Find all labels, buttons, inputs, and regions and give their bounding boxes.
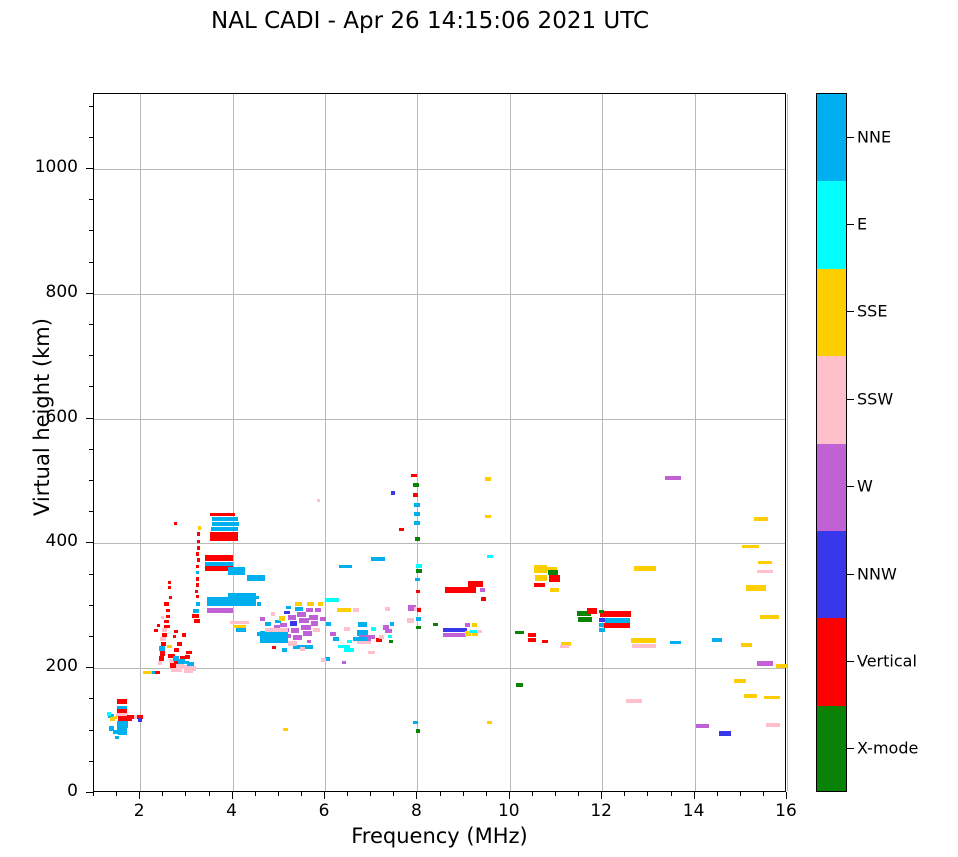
x-axis-tick	[532, 792, 533, 796]
y-axis-tick	[89, 199, 93, 200]
echo-block	[339, 565, 352, 569]
echo-block	[358, 622, 367, 627]
y-axis-tick	[89, 449, 93, 450]
colorbar-label-e: E	[857, 215, 867, 234]
x-axis-tick	[162, 792, 163, 796]
echo-block	[196, 583, 200, 587]
echo-block	[599, 628, 606, 632]
echo-block	[160, 651, 166, 656]
echo-block	[257, 602, 262, 606]
colorbar-segment	[817, 94, 846, 181]
echo-block	[337, 608, 351, 612]
y-axis-tick	[89, 730, 93, 731]
y-axis-tick-label: 200	[0, 656, 78, 676]
echo-block	[330, 632, 337, 636]
colorbar-segment	[817, 356, 846, 443]
echo-block	[347, 640, 352, 644]
echo-block	[353, 608, 360, 612]
x-axis-tick	[93, 792, 94, 796]
plot-area	[93, 93, 786, 792]
y-axis-tick-label: 1000	[0, 157, 78, 177]
x-axis-tick	[393, 792, 394, 796]
echo-block	[107, 712, 112, 716]
echo-block	[195, 590, 199, 594]
echo-block	[118, 732, 127, 736]
echo-block	[115, 736, 119, 740]
echo-block	[265, 622, 272, 626]
echo-block	[297, 612, 306, 617]
echo-block	[174, 648, 179, 652]
echo-block	[487, 555, 494, 559]
x-axis-tick-label: 2	[109, 801, 169, 821]
echo-data-layer	[94, 94, 785, 791]
y-axis-tick	[89, 230, 93, 231]
echo-block	[342, 661, 347, 665]
echo-block	[321, 658, 326, 662]
echo-block	[282, 648, 288, 652]
echo-block	[167, 645, 172, 649]
echo-block	[271, 612, 276, 616]
echo-block	[288, 615, 296, 620]
echo-block	[164, 602, 169, 606]
echo-block	[138, 718, 143, 722]
echo-block	[632, 644, 656, 648]
echo-block	[542, 640, 548, 644]
echo-block	[413, 483, 420, 487]
x-axis-tick	[509, 792, 510, 799]
echo-block	[299, 618, 309, 623]
echo-block	[414, 521, 421, 525]
echo-block	[368, 651, 375, 655]
x-axis-tick	[763, 792, 764, 796]
echo-block	[416, 729, 421, 733]
echo-block	[317, 499, 321, 502]
echo-block	[247, 575, 266, 581]
echo-block	[741, 643, 752, 647]
colorbar-label-x-mode: X-mode	[857, 739, 918, 758]
echo-block	[443, 633, 466, 637]
colorbar-tick	[847, 574, 854, 575]
echo-block	[166, 615, 171, 619]
echo-block	[210, 513, 235, 516]
x-axis-tick	[324, 792, 325, 799]
x-axis-tick	[232, 792, 233, 799]
echo-block	[162, 628, 168, 632]
echo-block	[228, 567, 245, 575]
x-axis-tick	[209, 792, 210, 796]
echo-block	[159, 646, 166, 650]
x-axis-tick	[601, 792, 602, 799]
echo-block	[196, 595, 200, 599]
colorbar-segment	[817, 181, 846, 268]
echo-block	[416, 626, 422, 630]
echo-block	[734, 679, 746, 683]
echo-block	[196, 602, 201, 606]
echo-block	[177, 642, 182, 646]
echo-block	[357, 641, 371, 645]
echo-block	[154, 629, 158, 632]
echo-block	[560, 645, 569, 649]
echo-block	[196, 577, 200, 581]
chart-title: NAL CADI - Apr 26 14:15:06 2021 UTC	[0, 8, 860, 34]
echo-block	[549, 575, 560, 583]
colorbar-label-sse: SSE	[857, 302, 887, 321]
echo-block	[260, 631, 288, 644]
echo-block	[157, 624, 160, 627]
x-axis-tick	[555, 792, 556, 796]
echo-block	[626, 699, 642, 703]
echo-block	[143, 671, 153, 674]
echo-block	[295, 602, 302, 606]
echo-block	[535, 575, 547, 581]
echo-block	[196, 552, 200, 556]
y-axis-tick	[89, 574, 93, 575]
colorbar-segment	[817, 618, 846, 705]
x-axis-tick	[347, 792, 348, 796]
y-axis-tick	[89, 386, 93, 387]
echo-block	[415, 578, 421, 581]
echo-block	[228, 593, 256, 606]
echo-block	[197, 532, 201, 536]
colorbar-segment	[817, 706, 846, 792]
echo-block	[757, 661, 774, 666]
colorbar-tick	[847, 137, 854, 138]
y-axis-tick	[89, 324, 93, 325]
echo-block	[369, 635, 375, 639]
echo-block	[515, 631, 523, 635]
echo-block	[485, 515, 492, 519]
echo-block	[185, 655, 191, 659]
echo-block	[587, 608, 597, 614]
echo-block	[186, 651, 192, 655]
echo-block	[550, 588, 559, 592]
echo-block	[325, 598, 339, 602]
echo-block	[371, 627, 376, 631]
echo-block	[758, 561, 772, 565]
y-axis-tick	[89, 355, 93, 356]
echo-block	[113, 716, 118, 720]
echo-block	[236, 628, 246, 632]
echo-block	[744, 694, 758, 698]
echo-block	[160, 637, 167, 641]
echo-block	[260, 617, 265, 621]
echo-block	[333, 637, 339, 641]
ionogram-figure: NAL CADI - Apr 26 14:15:06 2021 UTC 2468…	[0, 0, 958, 857]
y-axis-tick	[86, 293, 93, 294]
echo-block	[315, 608, 322, 612]
x-axis-tick	[717, 792, 718, 796]
echo-block	[417, 608, 422, 612]
echo-block	[411, 474, 418, 478]
echo-block	[776, 664, 787, 668]
x-axis-tick	[624, 792, 625, 796]
echo-block	[415, 537, 421, 541]
echo-block	[746, 585, 765, 591]
echo-block	[696, 724, 710, 728]
echo-block	[634, 566, 656, 570]
echo-block	[295, 607, 302, 611]
echo-block	[207, 608, 232, 613]
echo-block	[313, 628, 320, 632]
echo-block	[169, 596, 173, 599]
colorbar-tick	[847, 311, 854, 312]
echo-block	[344, 627, 351, 631]
echo-block	[665, 476, 681, 480]
echo-block	[414, 503, 421, 507]
echo-block	[371, 557, 385, 561]
x-axis-title: Frequency (MHz)	[93, 824, 786, 848]
echo-block	[194, 619, 201, 623]
x-axis-tick	[440, 792, 441, 796]
echo-block	[754, 517, 769, 521]
echo-block	[416, 564, 423, 568]
colorbar-segment	[817, 444, 846, 531]
echo-block	[286, 606, 291, 610]
echo-block	[487, 721, 493, 725]
echo-block	[189, 666, 196, 670]
echo-block	[193, 609, 200, 613]
echo-block	[391, 491, 396, 495]
echo-block	[528, 638, 535, 642]
echo-block	[485, 477, 492, 481]
y-axis-tick	[89, 605, 93, 606]
colorbar-label-nnw: NNW	[857, 564, 897, 583]
colorbar-segment	[817, 531, 846, 618]
x-axis-tick	[694, 792, 695, 799]
echo-block	[182, 633, 186, 637]
echo-block	[433, 623, 438, 626]
colorbar-label-w: W	[857, 477, 873, 496]
echo-block	[174, 522, 177, 525]
y-axis-tick	[89, 511, 93, 512]
echo-block	[468, 581, 483, 587]
echo-block	[318, 602, 324, 606]
x-axis-tick	[740, 792, 741, 796]
echo-block	[534, 583, 545, 587]
y-axis-tick	[86, 667, 93, 668]
x-axis-tick	[786, 792, 787, 799]
echo-block	[283, 728, 288, 731]
y-axis-tick	[89, 137, 93, 138]
echo-block	[291, 628, 299, 633]
echo-block	[164, 625, 170, 629]
echo-block	[604, 623, 630, 628]
echo-block	[516, 683, 523, 687]
echo-block	[416, 617, 422, 621]
y-axis-tick	[86, 542, 93, 543]
echo-block	[760, 615, 779, 619]
echo-block	[164, 620, 169, 624]
echo-block	[168, 581, 171, 584]
y-axis-tick	[86, 792, 93, 793]
echo-block	[478, 630, 483, 634]
colorbar-label-vertical: Vertical	[857, 651, 917, 670]
echo-block	[353, 637, 367, 641]
x-axis-tick	[116, 792, 117, 796]
x-axis-tick	[416, 792, 417, 799]
echo-block	[155, 671, 160, 675]
echo-block	[254, 596, 260, 600]
echo-block	[385, 629, 392, 633]
echo-block	[528, 633, 535, 637]
echo-block	[766, 723, 781, 727]
x-axis-tick-label: 14	[664, 801, 724, 821]
echo-block	[712, 638, 722, 642]
y-axis-tick	[89, 106, 93, 107]
echo-block	[631, 638, 656, 644]
echo-block	[187, 662, 194, 666]
x-axis-tick	[486, 792, 487, 796]
echo-block	[757, 570, 773, 574]
echo-block	[399, 528, 405, 531]
echo-block	[413, 721, 419, 725]
echo-block	[578, 617, 592, 622]
x-axis-tick	[139, 792, 140, 799]
echo-block	[272, 646, 276, 650]
x-axis-tick-label: 6	[294, 801, 354, 821]
echo-block	[303, 631, 312, 636]
echo-block	[344, 648, 354, 652]
x-axis-tick	[301, 792, 302, 796]
colorbar-tick	[847, 224, 854, 225]
echo-block	[445, 587, 476, 593]
echo-block	[764, 696, 780, 700]
colorbar-tick	[847, 486, 854, 487]
y-axis-tick	[89, 698, 93, 699]
echo-block	[306, 608, 313, 612]
x-axis-tick-label: 4	[202, 801, 262, 821]
echo-block	[158, 661, 163, 665]
x-axis-tick	[255, 792, 256, 796]
echo-block	[470, 630, 477, 634]
echo-block	[480, 588, 485, 592]
echo-block	[416, 590, 421, 594]
echo-block	[320, 617, 326, 621]
echo-block	[159, 656, 165, 660]
echo-block	[414, 512, 421, 516]
echo-block	[603, 611, 631, 617]
echo-block	[117, 699, 127, 703]
echo-block	[168, 586, 171, 589]
x-axis-tick	[578, 792, 579, 796]
echo-block	[173, 635, 177, 638]
x-axis-tick	[647, 792, 648, 796]
echo-block	[196, 571, 200, 575]
echo-block	[300, 647, 305, 651]
colorbar-tick	[847, 748, 854, 749]
colorbar-label-nne: NNE	[857, 127, 891, 146]
x-axis-tick-label: 8	[386, 801, 446, 821]
y-axis-tick-label: 0	[0, 781, 78, 801]
x-axis-tick	[463, 792, 464, 796]
colorbar-segment	[817, 269, 846, 356]
echo-block	[290, 621, 297, 626]
echo-block	[385, 607, 390, 611]
echo-block	[670, 641, 681, 645]
echo-block	[379, 635, 385, 639]
echo-block	[198, 526, 202, 530]
echo-block	[742, 545, 760, 549]
echo-block	[407, 618, 414, 623]
echo-block	[211, 527, 238, 531]
echo-block	[205, 555, 233, 561]
echo-block	[307, 640, 312, 644]
echo-block	[719, 731, 731, 735]
y-axis-tick	[89, 636, 93, 637]
x-axis-tick-label: 10	[479, 801, 539, 821]
y-axis-tick	[89, 262, 93, 263]
echo-block	[192, 614, 199, 618]
echo-block	[288, 641, 297, 645]
x-axis-tick	[671, 792, 672, 796]
echo-block	[196, 565, 200, 569]
x-axis-tick-label: 16	[756, 801, 816, 821]
echo-block	[280, 623, 287, 627]
echo-block	[197, 546, 201, 550]
echo-block	[311, 621, 318, 625]
x-axis-tick	[185, 792, 186, 796]
echo-block	[161, 642, 167, 646]
gridline-vertical	[787, 94, 788, 791]
echo-block	[162, 633, 167, 637]
echo-block	[465, 623, 471, 627]
x-axis-tick-label: 12	[571, 801, 631, 821]
echo-block	[307, 602, 314, 606]
colorbar-tick	[847, 661, 854, 662]
echo-block	[388, 635, 393, 639]
y-axis-tick	[89, 761, 93, 762]
echo-block	[265, 628, 288, 632]
echo-block	[166, 609, 170, 612]
colorbar-label-ssw: SSW	[857, 389, 893, 408]
echo-block	[197, 558, 201, 562]
y-axis-title: Virtual height (km)	[30, 227, 54, 607]
echo-block	[481, 597, 486, 601]
echo-block	[534, 565, 547, 574]
x-axis-tick	[278, 792, 279, 796]
echo-block	[257, 632, 262, 636]
y-axis-tick	[86, 418, 93, 419]
echo-block	[279, 616, 286, 620]
echo-block	[212, 522, 239, 526]
echo-block	[210, 532, 238, 541]
y-axis-tick	[89, 480, 93, 481]
echo-block	[389, 640, 394, 644]
echo-block	[161, 616, 165, 619]
echo-block	[416, 569, 423, 573]
colorbar-tick	[847, 399, 854, 400]
echo-block	[413, 493, 419, 497]
colorbar	[816, 93, 847, 792]
echo-block	[212, 517, 238, 521]
echo-block	[309, 615, 317, 620]
echo-block	[390, 622, 395, 626]
echo-block	[174, 630, 178, 633]
x-axis-tick	[370, 792, 371, 796]
echo-block	[197, 540, 201, 544]
echo-block	[293, 635, 302, 640]
echo-block	[472, 623, 478, 627]
echo-block	[301, 625, 311, 630]
echo-block	[326, 622, 332, 626]
y-axis-tick	[86, 168, 93, 169]
